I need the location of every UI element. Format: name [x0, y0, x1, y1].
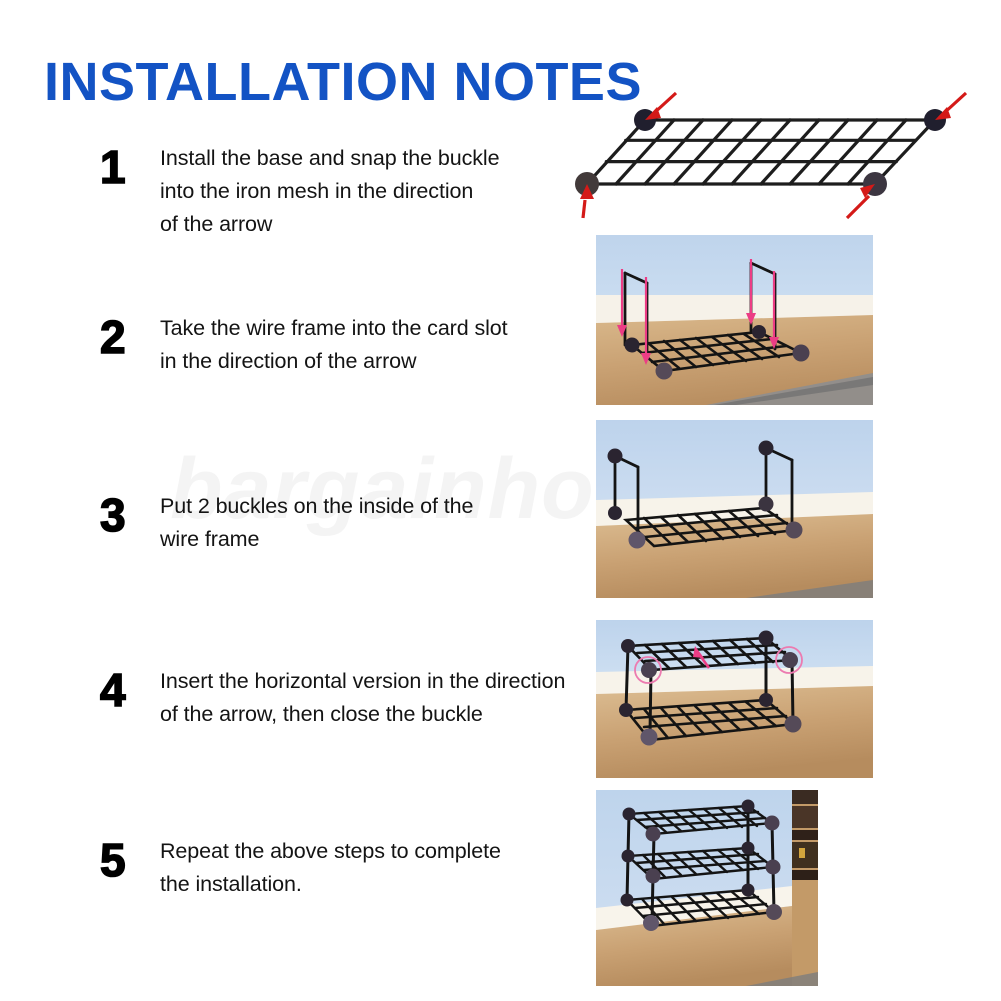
- step-number: 4: [100, 665, 160, 713]
- furniture: [792, 790, 818, 995]
- illustration-panel-5: [596, 790, 886, 995]
- step-number: 5: [100, 835, 160, 883]
- step-text: Take the wire frame into the card slot i…: [160, 312, 508, 378]
- step-text: Put 2 buckles on the inside of the wire …: [160, 490, 473, 556]
- step-text: Insert the horizontal version in the dir…: [160, 665, 565, 731]
- panel-4-svg: [596, 620, 886, 785]
- wall: [596, 235, 873, 295]
- room-scene-background: [596, 235, 886, 405]
- step-number: 1: [100, 142, 160, 190]
- step-number: 3: [100, 490, 160, 538]
- panel-5-svg: [596, 790, 886, 995]
- illustration-panel-3: [596, 420, 886, 605]
- step-text: Install the base and snap the buckle int…: [160, 142, 499, 241]
- step-row: 1 Install the base and snap the buckle i…: [100, 142, 499, 241]
- step-row: 5 Repeat the above steps to complete the…: [100, 835, 501, 901]
- buckle-knob-top-right: [759, 441, 774, 456]
- step-text: Repeat the above steps to complete the i…: [160, 835, 501, 901]
- illustration-panel-2: [596, 235, 886, 405]
- room-scene-background: [596, 420, 886, 605]
- step-row: 3 Put 2 buckles on the inside of the wir…: [100, 490, 473, 556]
- panel-2-svg: [596, 235, 886, 405]
- illustration-panel-4: [596, 620, 886, 785]
- wood-floor: [596, 686, 873, 778]
- step-row: 4 Insert the horizontal version in the d…: [100, 665, 565, 731]
- buckle-knob-top-left: [608, 449, 623, 464]
- page-title: INSTALLATION NOTES: [44, 54, 642, 111]
- panel-3-svg: [596, 420, 886, 605]
- step-row: 2 Take the wire frame into the card slot…: [100, 312, 508, 378]
- step-number: 2: [100, 312, 160, 360]
